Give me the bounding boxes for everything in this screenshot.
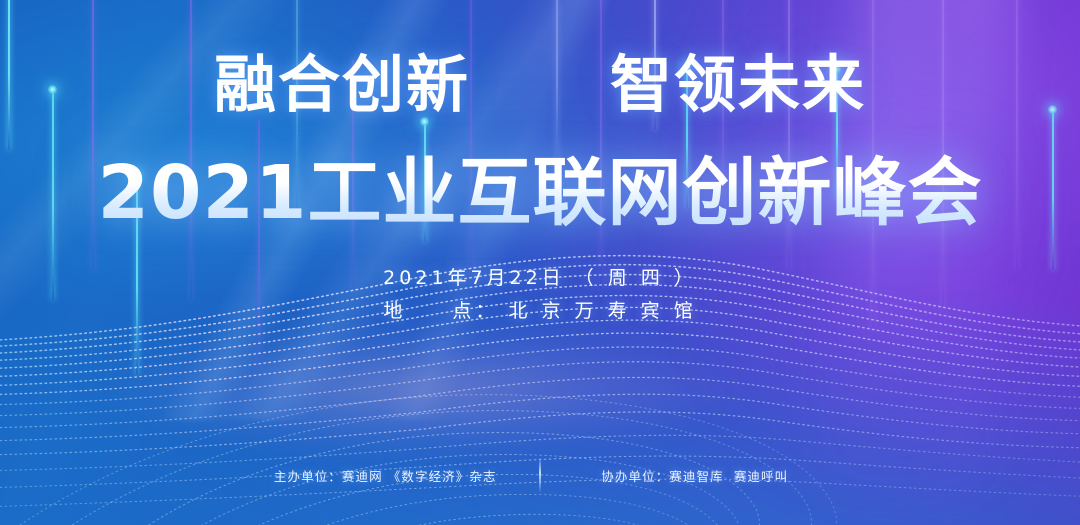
event-details: 2021年7月22日 （ 周 四 ） 地 点： 北 京 万 寿 宾 馆 [0,262,1080,328]
conference-poster: 融合创新 智领未来 2021工业互联网创新峰会 2021年7月22日 （ 周 四… [0,0,1080,525]
poster-content: 融合创新 智领未来 2021工业互联网创新峰会 2021年7月22日 （ 周 四… [0,0,1080,525]
event-date: 2021年7月22日 （ 周 四 ） [0,262,1080,295]
footer-divider [539,457,541,493]
event-location: 地 点： 北 京 万 寿 宾 馆 [0,295,1080,328]
poster-footer: 主办单位：赛迪网 《数字经济》杂志 协办单位：赛迪智库 赛迪呼叫 [0,457,1080,493]
poster-headline: 融合创新 智领未来 [0,34,1080,124]
organizer-text: 主办单位：赛迪网 《数字经济》杂志 [235,466,535,485]
co-organizer-text: 协办单位：赛迪智库 赛迪呼叫 [545,466,845,485]
poster-main-title: 2021工业互联网创新峰会 [0,133,1080,240]
